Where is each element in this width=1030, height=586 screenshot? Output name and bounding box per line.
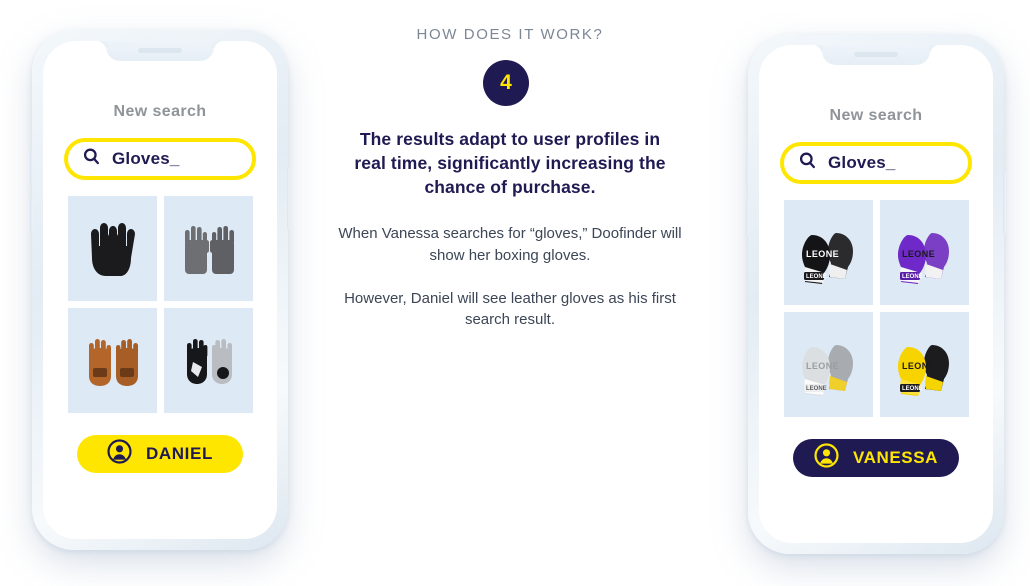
phone-screen-daniel: New search Gloves_ (43, 41, 277, 539)
notch (822, 45, 930, 65)
search-icon (798, 151, 817, 175)
phone-mockup-daniel: New search Gloves_ (32, 30, 288, 550)
product-tile[interactable] (164, 196, 253, 301)
user-icon (107, 439, 132, 469)
section-kicker: HOW DOES IT WORK? (330, 26, 690, 43)
screen-title: New search (830, 107, 923, 125)
svg-text:LEONE: LEONE (902, 274, 923, 280)
paragraph-daniel: However, Daniel will see leather gloves … (330, 288, 690, 331)
step-number: 4 (500, 71, 512, 95)
power-button[interactable] (287, 168, 290, 230)
power-button[interactable] (1003, 172, 1006, 234)
explainer-column: HOW DOES IT WORK? 4 The results adapt to… (330, 0, 690, 586)
phone-mockup-vanessa: New search Gloves_ (748, 34, 1004, 554)
product-tile[interactable]: LEONE LEONE (880, 312, 969, 417)
search-input[interactable]: Gloves_ (64, 138, 256, 180)
product-tile[interactable] (68, 196, 157, 301)
search-input-value: Gloves_ (828, 153, 896, 173)
profile-name: DANIEL (146, 444, 213, 464)
notch (106, 41, 214, 61)
paragraph-vanessa: When Vanessa searches for “gloves,” Doof… (330, 223, 690, 266)
search-icon (82, 147, 101, 171)
screen-title: New search (114, 103, 207, 121)
profile-button-vanessa[interactable]: VANESSA (793, 439, 959, 477)
product-tile[interactable] (164, 308, 253, 413)
search-input[interactable]: Gloves_ (780, 142, 972, 184)
product-tile[interactable]: LEONE LEONE (784, 200, 873, 305)
volume-down-button[interactable] (30, 196, 33, 232)
svg-text:LEONE: LEONE (902, 386, 923, 392)
product-grid: LEONE LEONE LEONE LEONE (784, 200, 969, 417)
headline: The results adapt to user profiles in re… (330, 127, 690, 199)
speaker-grille (138, 48, 182, 53)
svg-text:LEONE: LEONE (806, 361, 839, 371)
slide-canvas: New search Gloves_ (0, 0, 1030, 586)
profile-name: VANESSA (853, 448, 938, 468)
phone-screen-vanessa: New search Gloves_ (759, 45, 993, 543)
svg-text:LEONE: LEONE (902, 249, 935, 259)
volume-down-button[interactable] (746, 200, 749, 236)
dotted-connector-line (414, 83, 486, 86)
svg-text:LEONE: LEONE (806, 249, 839, 259)
svg-text:LEONE: LEONE (806, 386, 827, 392)
svg-text:LEONE: LEONE (806, 274, 827, 280)
user-icon (814, 443, 839, 473)
product-tile[interactable]: LEONE LEONE (784, 312, 873, 417)
step-indicator: 4 (330, 60, 690, 106)
svg-text:LEONE: LEONE (902, 361, 935, 371)
product-grid (68, 196, 253, 413)
product-tile[interactable]: LEONE LEONE (880, 200, 969, 305)
profile-button-daniel[interactable]: DANIEL (77, 435, 243, 473)
speaker-grille (854, 52, 898, 57)
step-badge: 4 (483, 60, 529, 106)
product-tile[interactable] (68, 308, 157, 413)
volume-up-button[interactable] (30, 148, 33, 184)
search-input-value: Gloves_ (112, 149, 180, 169)
volume-up-button[interactable] (746, 152, 749, 188)
